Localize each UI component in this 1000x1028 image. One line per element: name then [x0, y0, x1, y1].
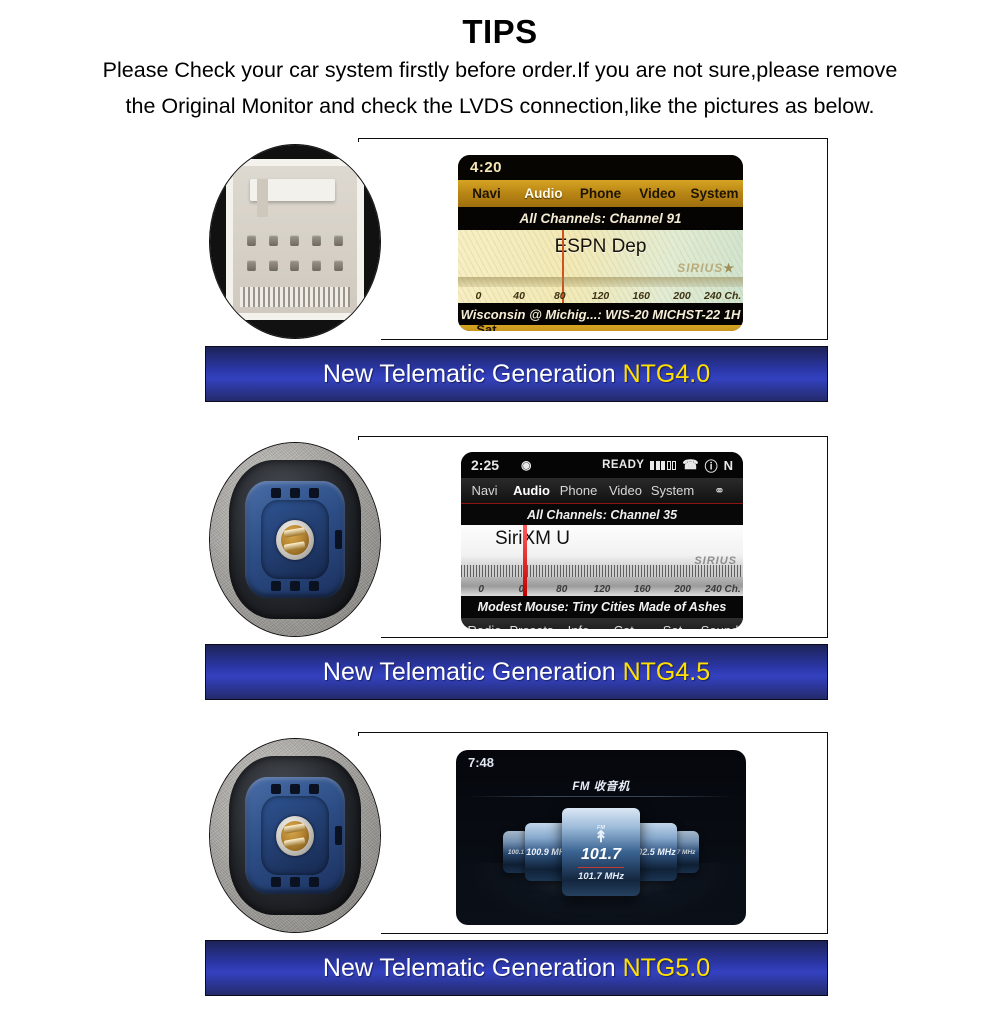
status-ready-label: READY	[602, 459, 644, 471]
btn-sat-radio[interactable]: Sat Radio	[458, 322, 515, 331]
banner-code: NTG4.0	[623, 360, 711, 388]
phone-icon: ☎	[682, 457, 698, 473]
connector-photo-ntg50	[205, 736, 381, 936]
btn-presets[interactable]: Presets	[515, 330, 572, 332]
screen-title-ntg50: FM 收音机	[456, 778, 746, 794]
now-playing-info-ntg45: Modest Mouse: Tiny Cities Made of Ashes	[461, 596, 743, 618]
page-title: TIPS	[0, 12, 1000, 52]
banner-ntg50: New Telematic Generation NTG5.0	[205, 940, 828, 996]
channel-subtitle-ntg40: All Channels: Channel 91	[458, 207, 743, 230]
product-block-ntg45: 2:25 ◉ READY ☎ ⓘ N Navi Audio Phone Vide…	[0, 436, 1000, 644]
btn-cat[interactable]: Cat.	[602, 623, 649, 630]
product-block-ntg50: 7:48 FM 收音机 100.1 100.9 MHz FM ↟ 101.7 1…	[0, 732, 1000, 940]
connector-pin-core	[276, 520, 314, 560]
btn-info[interactable]: Info	[555, 623, 602, 630]
menu-bar-ntg40[interactable]: Navi Audio Phone Video System	[458, 180, 743, 207]
station-name-ntg40: ESPN Dep	[458, 236, 743, 258]
btn-sat[interactable]: Sat	[649, 623, 696, 630]
warning-circle-icon: ⓘ	[705, 456, 718, 475]
tick-160: 160	[622, 584, 662, 595]
banner-code: NTG4.5	[623, 658, 711, 686]
tuner-dial-ntg40[interactable]: ESPN Dep SIRIUS★ 0 40 80 120 160 200 240…	[458, 230, 743, 303]
frequency-carousel[interactable]: 100.1 100.9 MHz FM ↟ 101.7 101.7 MHz 102…	[456, 806, 746, 898]
connector-photo-ntg40	[205, 142, 381, 342]
banner-text-ntg50: New Telematic Generation NTG5.0	[323, 954, 710, 983]
head-unit-screen-ntg45: 2:25 ◉ READY ☎ ⓘ N Navi Audio Phone Vide…	[461, 452, 743, 629]
connector-photo-ntg45	[205, 440, 381, 640]
banner-code: NTG5.0	[623, 954, 711, 982]
menu-item-system[interactable]: System	[686, 186, 743, 201]
title-divider	[466, 796, 736, 797]
tick-240: 240 Ch.	[703, 584, 743, 595]
station-name-ntg45: SiriXM U	[495, 528, 570, 550]
dial-ticks-ntg40: 0 40 80 120 160 200 240 Ch.	[458, 287, 743, 302]
tick-0: 0	[458, 290, 499, 302]
selected-frequency-unit: 101.7 MHz	[578, 871, 624, 882]
tick-80: 80	[539, 290, 580, 302]
clock-ntg45: 2:25	[471, 457, 499, 473]
btn-presets[interactable]: Presets	[508, 623, 555, 630]
rectangular-lvds-connector-icon	[209, 144, 381, 339]
banner-ntg45: New Telematic Generation NTG4.5	[205, 644, 828, 700]
banner-ntg40: New Telematic Generation NTG4.0	[205, 346, 828, 402]
round-lvds-connector-icon	[209, 738, 381, 933]
menu-item-video[interactable]: Video	[629, 186, 686, 201]
tick-200: 200	[662, 584, 702, 595]
tick-240: 240 Ch.	[702, 290, 743, 302]
banner-text-ntg45: New Telematic Generation NTG4.5	[323, 658, 710, 687]
record-icon: ◉	[521, 458, 531, 472]
menu-item-audio[interactable]: Audio	[515, 186, 572, 201]
banner-prefix: New Telematic Generation	[323, 360, 623, 388]
dial-ticks-ntg45: 0 0 80 120 160 200 240 Ch.	[461, 581, 743, 595]
selected-underline	[578, 867, 623, 869]
head-unit-screen-ntg40: 4:20 Navi Audio Phone Video System All C…	[458, 155, 743, 331]
dial-scale-ntg40	[458, 277, 743, 287]
menu-item-system[interactable]: System	[649, 483, 696, 498]
menu-item-phone[interactable]: Phone	[572, 186, 629, 201]
tick-80: 80	[542, 584, 582, 595]
channel-subtitle-ntg45: All Channels: Channel 35	[461, 504, 743, 525]
tick-40: 40	[499, 290, 540, 302]
tick-160: 160	[621, 290, 662, 302]
globe-icon[interactable]: ⚭	[696, 483, 743, 499]
menu-item-navi[interactable]: Navi	[461, 483, 508, 498]
product-block-ntg40: 4:20 Navi Audio Phone Video System All C…	[0, 138, 1000, 346]
signal-bars-icon	[650, 461, 676, 470]
banner-prefix: New Telematic Generation	[323, 954, 623, 982]
status-letter-n: N	[724, 458, 733, 473]
menu-item-navi[interactable]: Navi	[458, 186, 515, 201]
banner-prefix: New Telematic Generation	[323, 658, 623, 686]
selected-frequency: 101.7	[581, 846, 621, 864]
tick-120: 120	[580, 290, 621, 302]
sirius-logo-ntg40: SIRIUS★	[677, 261, 735, 275]
tick-200: 200	[662, 290, 703, 302]
clock-ntg40: 4:20	[458, 155, 743, 180]
instruction-line-2: the Original Monitor and check the LVDS …	[0, 88, 1000, 124]
tick-0b: 0	[501, 584, 541, 595]
tuner-dial-ntg45[interactable]: SiriXM U SIRIUS 0 0 80 120 160 200 240 C…	[461, 525, 743, 596]
antenna-icon: FM ↟	[562, 826, 640, 844]
btn-category[interactable]: Category	[629, 330, 686, 332]
banner-text-ntg40: New Telematic Generation NTG4.0	[323, 360, 710, 389]
menu-item-phone[interactable]: Phone	[555, 483, 602, 498]
bottom-bar-ntg45[interactable]: Radio Presets Info Cat. Sat Sound	[461, 618, 743, 629]
connector-pin-core	[276, 816, 314, 856]
carousel-tile-selected[interactable]: FM ↟ 101.7 101.7 MHz	[562, 808, 640, 896]
menu-bar-ntg45[interactable]: Navi Audio Phone Video System ⚭	[461, 478, 743, 504]
btn-info[interactable]: Info	[572, 330, 629, 332]
head-unit-screen-ntg50: 7:48 FM 收音机 100.1 100.9 MHz FM ↟ 101.7 1…	[456, 750, 746, 925]
round-lvds-connector-icon	[209, 442, 381, 637]
instruction-line-1: Please Check your car system firstly bef…	[0, 52, 1000, 88]
btn-radio[interactable]: Radio	[461, 623, 508, 630]
menu-item-audio[interactable]: Audio	[508, 483, 555, 498]
tick-0a: 0	[461, 584, 501, 595]
menu-item-video[interactable]: Video	[602, 483, 649, 498]
page-header: TIPS Please Check your car system firstl…	[0, 0, 1000, 124]
bottom-bar-ntg40[interactable]: Sat Radio Presets Info Category Sound	[458, 325, 743, 331]
tick-120: 120	[582, 584, 622, 595]
sirius-logo-ntg45: SIRIUS	[694, 555, 737, 567]
clock-ntg50: 7:48	[468, 755, 494, 770]
status-bar-ntg45: 2:25 ◉ READY ☎ ⓘ N	[461, 452, 743, 478]
